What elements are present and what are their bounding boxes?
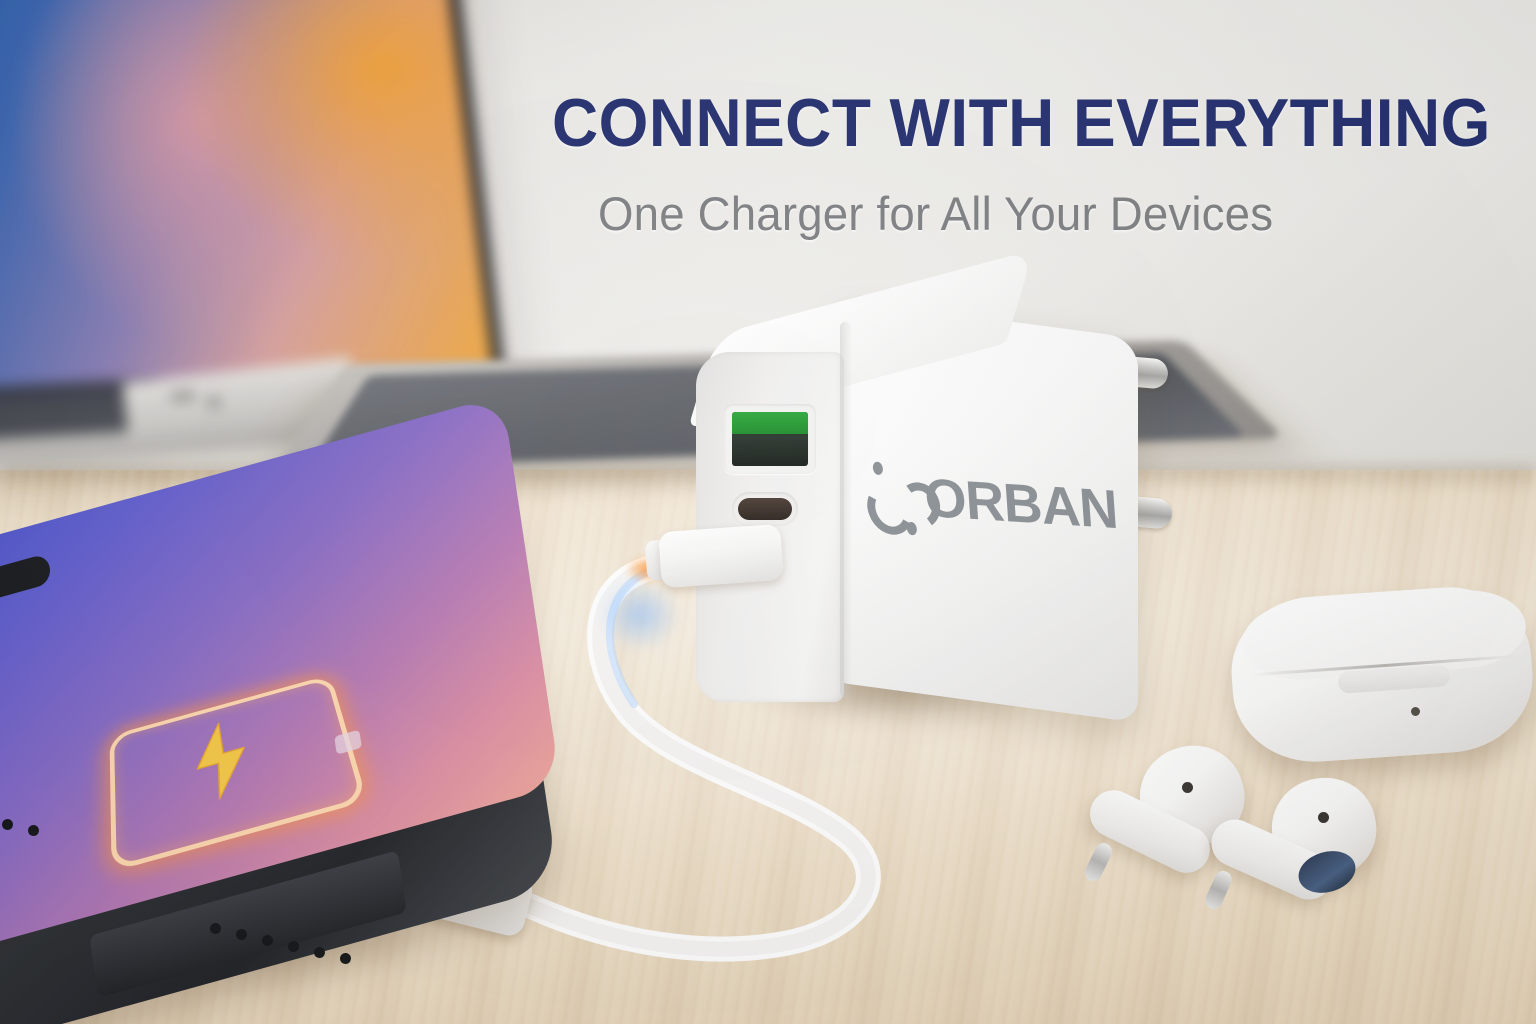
earbuds-charging-case (1232, 592, 1536, 774)
headline-text: CONNECT WITH EVERYTHING (552, 84, 1491, 162)
usb-a-cavity (732, 412, 808, 466)
brand-logo: ORBAN (862, 457, 1118, 563)
subheadline-text: One Charger for All Your Devices (598, 186, 1273, 241)
earbud-left-mic-icon (1182, 782, 1193, 793)
wall-charger: ORBAN (690, 300, 1160, 730)
usb-c-port (732, 492, 798, 526)
cable-connector-charger-end (658, 524, 784, 588)
charger-edge-bevel (840, 321, 852, 699)
smartphone (0, 555, 580, 1024)
case-led-indicator (1411, 707, 1420, 716)
logo-dot-top (872, 461, 883, 475)
usb-a-green-insert (732, 412, 808, 434)
usb-a-port (724, 404, 816, 474)
earbud-right-mic-icon (1318, 812, 1329, 823)
usb-c-cavity (738, 498, 792, 520)
brand-name: ORBAN (922, 467, 1119, 542)
product-marketing-image: ORBAN (0, 0, 1536, 1024)
